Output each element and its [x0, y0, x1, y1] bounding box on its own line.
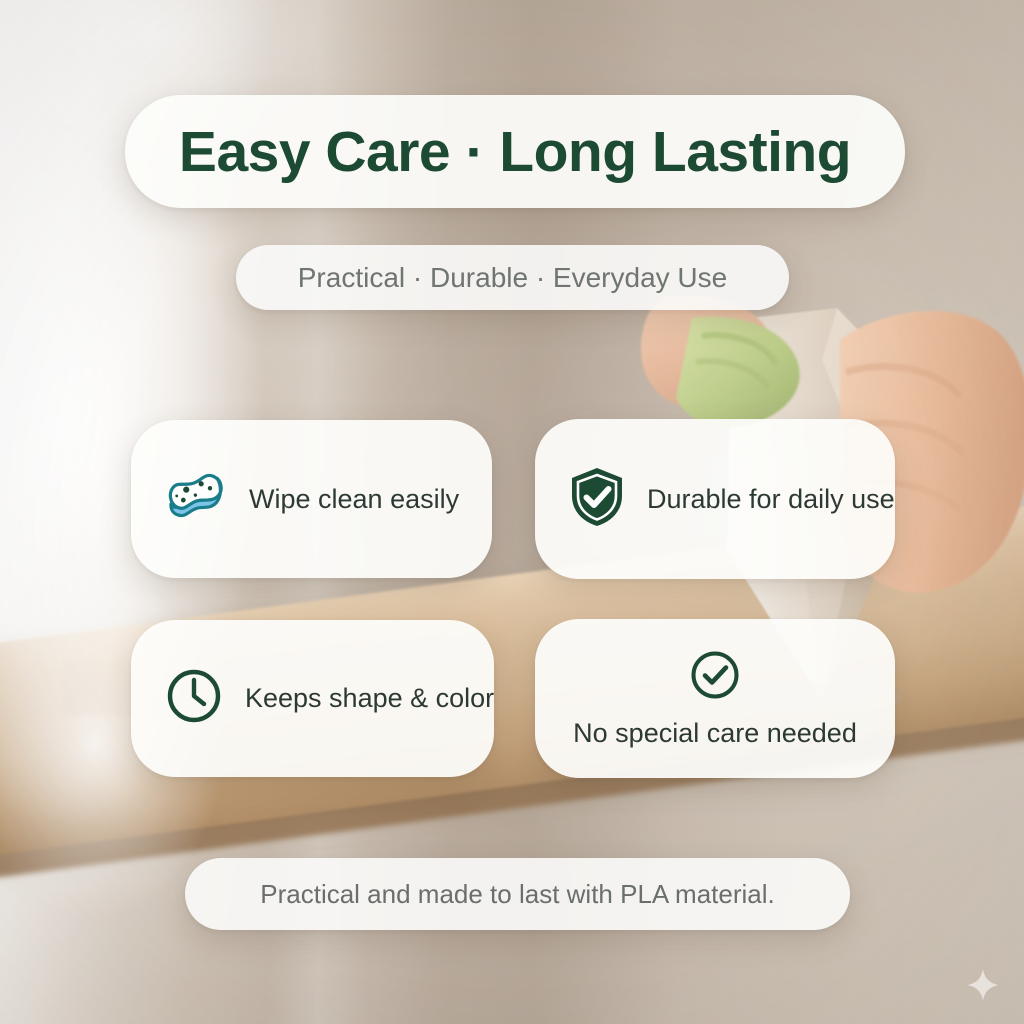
- sponge-icon: [165, 471, 227, 528]
- feature-label-no-special-care: No special care needed: [573, 718, 857, 749]
- check-circle-icon: [689, 649, 741, 706]
- infographic-canvas: Easy Care · Long Lasting Practical · Dur…: [0, 0, 1024, 1024]
- feature-label-keeps: Keeps shape & color: [245, 683, 494, 714]
- feature-label-durable: Durable for daily use: [647, 484, 895, 515]
- page-title: Easy Care · Long Lasting: [179, 119, 851, 185]
- title-pill: Easy Care · Long Lasting: [125, 95, 905, 208]
- footer-caption: Practical and made to last with PLA mate…: [260, 879, 774, 910]
- footer-pill: Practical and made to last with PLA mate…: [185, 858, 850, 930]
- feature-label-wipe: Wipe clean easily: [249, 484, 459, 515]
- shield-check-icon: [569, 466, 625, 533]
- clock-icon: [165, 667, 223, 730]
- feature-card-no-special-care[interactable]: No special care needed: [535, 619, 895, 778]
- feature-card-keeps[interactable]: Keeps shape & color: [131, 620, 494, 777]
- subtitle-pill: Practical · Durable · Everyday Use: [236, 245, 789, 310]
- page-subtitle: Practical · Durable · Everyday Use: [298, 262, 727, 294]
- feature-card-durable[interactable]: Durable for daily use: [535, 419, 895, 579]
- feature-card-wipe[interactable]: Wipe clean easily: [131, 420, 492, 578]
- sparkle-icon: [966, 968, 1000, 1002]
